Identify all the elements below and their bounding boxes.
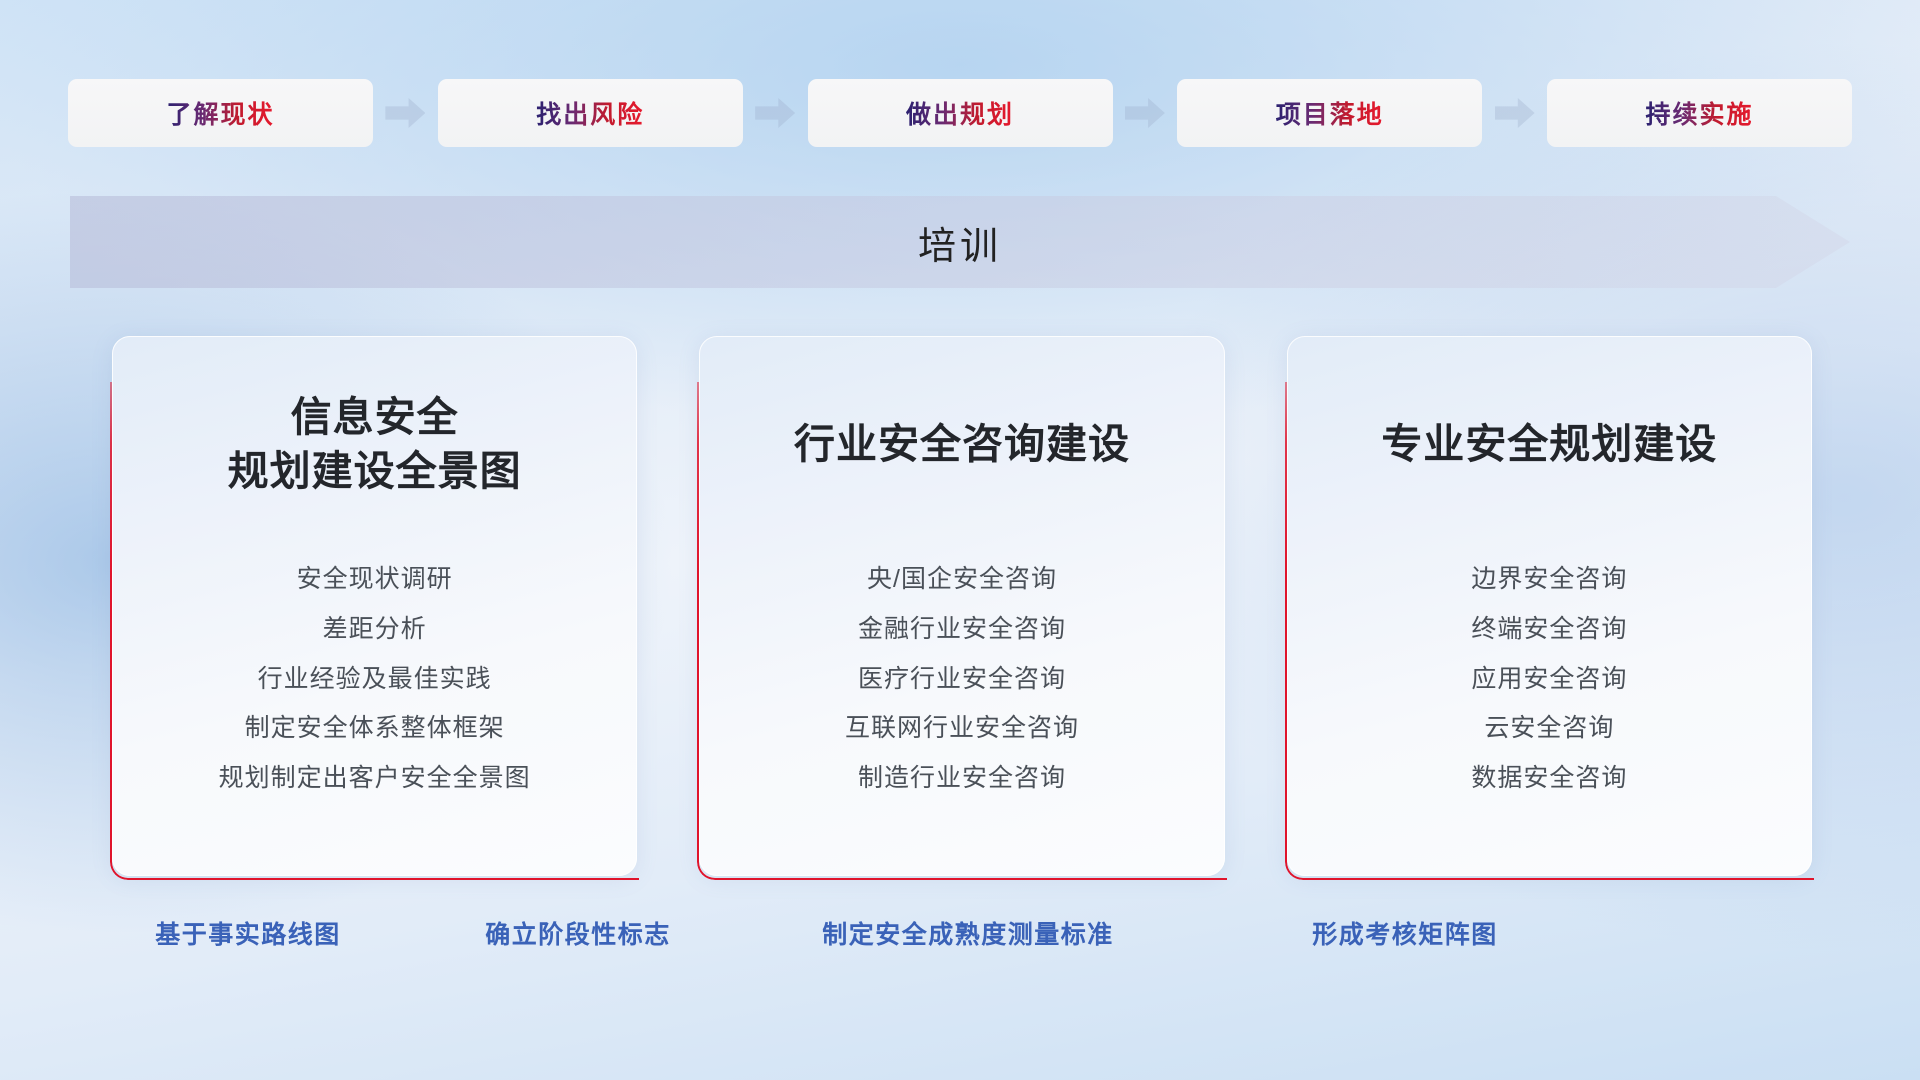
list-item: 云安全咨询 [1484, 712, 1614, 746]
list-item: 行业经验及最佳实践 [258, 663, 492, 697]
capability-card-row: 信息安全 规划建设全景图 安全现状调研 差距分析 行业经验及最佳实践 制定安全体… [112, 336, 1812, 876]
arrow-right-icon [373, 93, 438, 133]
card-divider [1332, 522, 1767, 529]
process-step-row: 了解现状 找出风险 做出规划 项目落地 持续实施 [68, 78, 1852, 148]
caption-2: 确立阶段性标志 [485, 915, 671, 951]
training-banner-label: 培训 [918, 215, 1002, 270]
list-item: 规划制定出客户安全全景图 [219, 762, 531, 796]
arrow-right-icon [743, 93, 808, 133]
step-label: 找出风险 [536, 95, 644, 131]
card-list: 央/国企安全咨询 金融行业安全咨询 医疗行业安全咨询 互联网行业安全咨询 制造行… [725, 563, 1198, 796]
step-box-2[interactable]: 找出风险 [438, 79, 743, 147]
training-banner: 培训 [70, 196, 1850, 288]
list-item: 边界安全咨询 [1471, 563, 1627, 597]
caption-1: 基于事实路线图 [155, 915, 341, 951]
list-item: 金融行业安全咨询 [858, 613, 1066, 647]
capability-card[interactable]: 专业安全规划建设 边界安全咨询 终端安全咨询 应用安全咨询 云安全咨询 数据安全… [1287, 336, 1812, 876]
list-item: 数据安全咨询 [1471, 762, 1627, 796]
caption-3: 制定安全成熟度测量标准 [822, 915, 1114, 951]
caption-row: 基于事实路线图 确立阶段性标志 制定安全成熟度测量标准 形成考核矩阵图 [0, 915, 1920, 959]
list-item: 安全现状调研 [297, 563, 453, 597]
step-box-4[interactable]: 项目落地 [1177, 79, 1482, 147]
step-box-3[interactable]: 做出规划 [808, 79, 1113, 147]
card-list: 边界安全咨询 终端安全咨询 应用安全咨询 云安全咨询 数据安全咨询 [1313, 563, 1786, 796]
list-item: 制定安全体系整体框架 [245, 712, 505, 746]
list-item: 央/国企安全咨询 [867, 563, 1057, 597]
arrow-right-icon [1482, 93, 1547, 133]
capability-card[interactable]: 行业安全咨询建设 央/国企安全咨询 金融行业安全咨询 医疗行业安全咨询 互联网行… [699, 336, 1224, 876]
list-item: 差距分析 [323, 613, 427, 647]
list-item: 终端安全咨询 [1471, 613, 1627, 647]
step-label: 做出规划 [906, 95, 1014, 131]
step-label: 项目落地 [1276, 95, 1384, 131]
caption-4: 形成考核矩阵图 [1312, 915, 1498, 951]
card-title: 专业安全规划建设 [1381, 388, 1717, 500]
step-box-1[interactable]: 了解现状 [68, 79, 373, 147]
capability-card[interactable]: 信息安全 规划建设全景图 安全现状调研 差距分析 行业经验及最佳实践 制定安全体… [112, 336, 637, 876]
card-divider [157, 522, 592, 529]
list-item: 制造行业安全咨询 [858, 762, 1066, 796]
list-item: 互联网行业安全咨询 [845, 712, 1079, 746]
card-title: 信息安全 规划建设全景图 [228, 388, 522, 500]
step-label: 持续实施 [1645, 95, 1753, 131]
step-label: 了解现状 [166, 95, 274, 131]
list-item: 应用安全咨询 [1471, 663, 1627, 697]
list-item: 医疗行业安全咨询 [858, 663, 1066, 697]
card-title: 行业安全咨询建设 [794, 388, 1130, 500]
card-divider [744, 522, 1179, 529]
arrow-right-icon [1113, 93, 1178, 133]
card-list: 安全现状调研 差距分析 行业经验及最佳实践 制定安全体系整体框架 规划制定出客户… [138, 563, 611, 796]
step-box-5[interactable]: 持续实施 [1547, 79, 1852, 147]
slide-canvas: 了解现状 找出风险 做出规划 项目落地 持续实施 培训 信息安全 规划建设全景图… [0, 0, 1920, 1080]
